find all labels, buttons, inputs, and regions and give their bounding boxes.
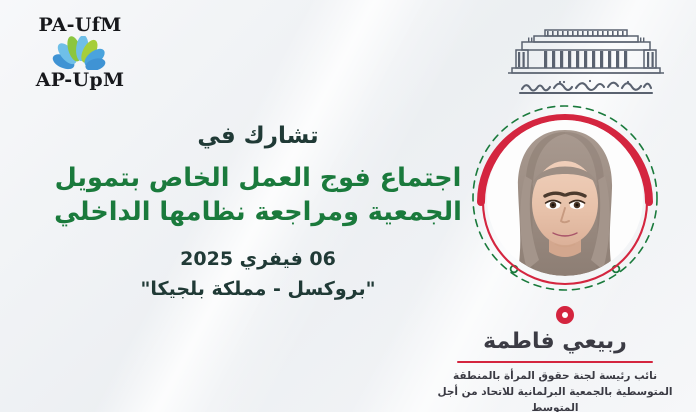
algerian-parliament-logo xyxy=(498,10,674,96)
page-title: اجتماع فوج العمل الخاص بتمويل الجمعية وم… xyxy=(16,161,500,229)
pa-ufm-logo-top-text: PA-UfM xyxy=(26,16,134,35)
name-divider xyxy=(457,361,653,363)
person-name: ربيعي فاطمة xyxy=(420,330,690,354)
announcement-copy: تشارك في اجتماع فوج العمل الخاص بتمويل ا… xyxy=(16,124,500,302)
red-ring-dot-marker xyxy=(556,306,574,324)
person-identity: ربيعي فاطمة نائب رئيسة لجنة حقوق المرأة … xyxy=(420,330,690,412)
portrait-frame xyxy=(479,112,651,284)
pa-ufm-logo-bottom-text: AP-UpM xyxy=(26,71,134,90)
event-location: "بروكسل - مملكة بلجيكا" xyxy=(16,278,500,302)
fan-petals-emblem xyxy=(41,36,119,70)
portrait-photo xyxy=(487,120,643,276)
person-role: نائب رئيسة لجنة حقوق المرأة بالمنطقة الم… xyxy=(429,369,681,412)
event-date: 06 فيفري 2025 xyxy=(16,248,500,272)
announcement-card: PA-UfM xyxy=(0,0,696,412)
kicker-text: تشارك في xyxy=(16,124,500,149)
avatar xyxy=(487,120,643,276)
pa-ufm-logo: PA-UfM xyxy=(26,16,134,90)
parliament-building-icon xyxy=(498,10,674,96)
